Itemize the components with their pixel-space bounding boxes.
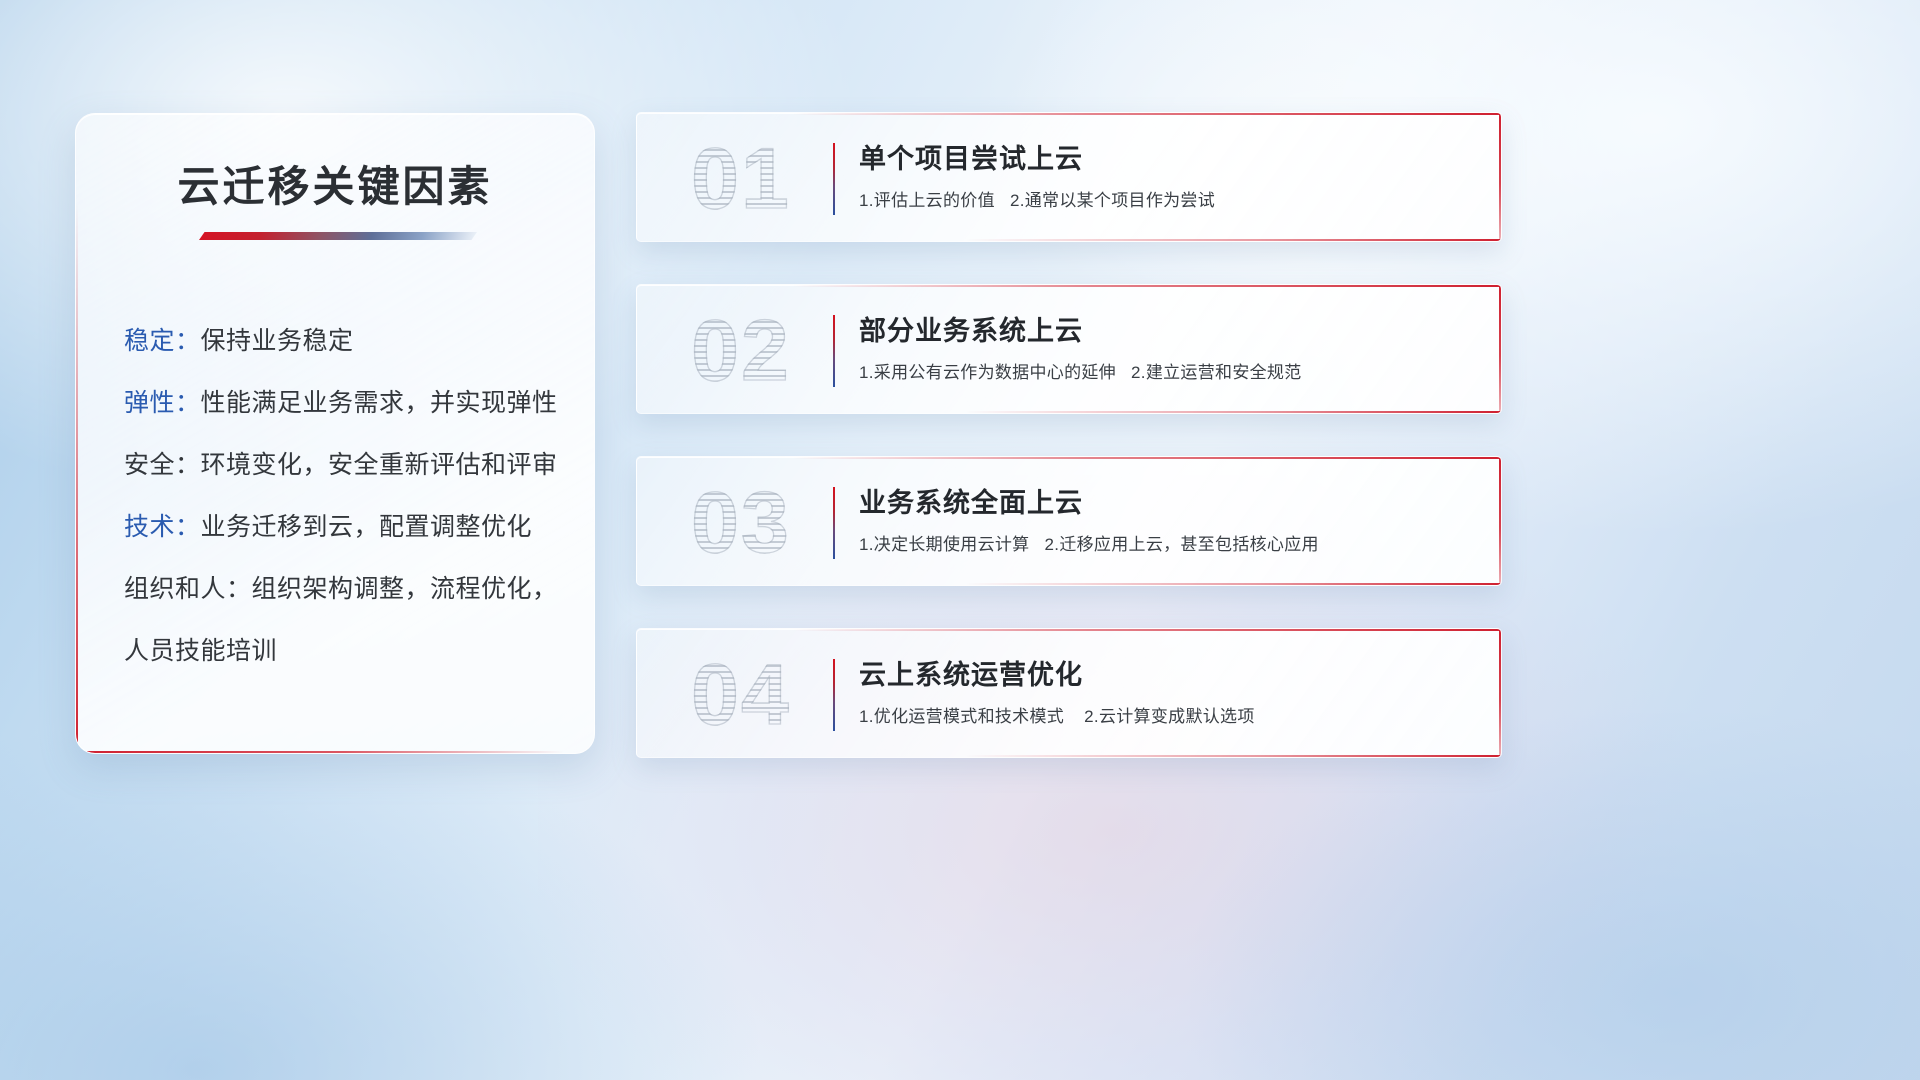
key-factor-label: 组织和人： bbox=[124, 575, 252, 603]
card-accent-bottom-border bbox=[965, 239, 1501, 241]
key-factor-label: 安全： bbox=[124, 451, 201, 479]
card-accent-bottom-border bbox=[965, 411, 1501, 413]
panel-title-underline bbox=[199, 232, 477, 240]
card-title: 云上系统运营优化 bbox=[859, 656, 1461, 694]
card-accent-bottom-border bbox=[965, 755, 1501, 757]
card-title: 单个项目尝试上云 bbox=[859, 140, 1461, 178]
key-factor-text: 组织架构调整，流程优化， bbox=[252, 575, 558, 603]
key-factor-text: 性能满足业务需求，并实现弹性 bbox=[201, 389, 558, 417]
key-factor-text: 人员技能培训 bbox=[124, 637, 277, 665]
card-title: 部分业务系统上云 bbox=[859, 312, 1461, 350]
key-factor-line: 安全：环境变化，安全重新评估和评审 bbox=[124, 434, 564, 496]
panel-accent-bottom-border bbox=[76, 751, 563, 753]
card-text-block: 云上系统运营优化1.优化运营模式和技术模式 2.云计算变成默认选项 bbox=[859, 656, 1461, 729]
migration-stage-card[interactable]: 04云上系统运营优化1.优化运营模式和技术模式 2.云计算变成默认选项 bbox=[636, 628, 1502, 758]
card-text-block: 单个项目尝试上云1.评估上云的价值 2.通常以某个项目作为尝试 bbox=[859, 140, 1461, 213]
key-factor-line: 弹性：性能满足业务需求，并实现弹性 bbox=[124, 372, 564, 434]
key-factor-line: 人员技能培训 bbox=[124, 620, 564, 682]
card-title: 业务系统全面上云 bbox=[859, 484, 1461, 522]
card-accent-right-border bbox=[1499, 113, 1501, 241]
key-factor-text: 业务迁移到云，配置调整优化 bbox=[201, 513, 533, 541]
key-factor-label: 弹性： bbox=[124, 389, 201, 417]
card-subtitle: 1.优化运营模式和技术模式 2.云计算变成默认选项 bbox=[859, 705, 1461, 729]
card-text-block: 业务系统全面上云1.决定长期使用云计算 2.迁移应用上云，甚至包括核心应用 bbox=[859, 484, 1461, 557]
card-accent-top-border bbox=[793, 629, 1501, 631]
migration-stage-card[interactable]: 03业务系统全面上云1.决定长期使用云计算 2.迁移应用上云，甚至包括核心应用 bbox=[636, 456, 1502, 586]
card-step-number: 02 bbox=[661, 297, 821, 405]
card-accent-top-border bbox=[793, 113, 1501, 115]
card-divider-bar bbox=[833, 143, 835, 215]
card-accent-right-border bbox=[1499, 285, 1501, 413]
key-factor-text: 环境变化，安全重新评估和评审 bbox=[201, 451, 558, 479]
key-factor-label: 技术： bbox=[124, 513, 201, 541]
key-factor-label: 稳定： bbox=[124, 327, 201, 355]
key-factor-line: 稳定：保持业务稳定 bbox=[124, 310, 564, 372]
migration-stage-card[interactable]: 01单个项目尝试上云1.评估上云的价值 2.通常以某个项目作为尝试 bbox=[636, 112, 1502, 242]
key-factors-panel: 云迁移关键因素 稳定：保持业务稳定弹性：性能满足业务需求，并实现弹性安全：环境变… bbox=[75, 113, 595, 754]
card-divider-bar bbox=[833, 659, 835, 731]
card-step-number: 03 bbox=[661, 469, 821, 577]
card-accent-right-border bbox=[1499, 629, 1501, 757]
key-factor-text: 保持业务稳定 bbox=[201, 327, 354, 355]
panel-accent-left-border bbox=[76, 203, 78, 753]
key-factor-line: 技术：业务迁移到云，配置调整优化 bbox=[124, 496, 564, 558]
card-subtitle: 1.评估上云的价值 2.通常以某个项目作为尝试 bbox=[859, 189, 1461, 213]
card-divider-bar bbox=[833, 487, 835, 559]
card-step-number: 01 bbox=[661, 125, 821, 233]
card-text-block: 部分业务系统上云1.采用公有云作为数据中心的延伸 2.建立运营和安全规范 bbox=[859, 312, 1461, 385]
key-factors-list: 稳定：保持业务稳定弹性：性能满足业务需求，并实现弹性安全：环境变化，安全重新评估… bbox=[124, 310, 564, 682]
card-subtitle: 1.决定长期使用云计算 2.迁移应用上云，甚至包括核心应用 bbox=[859, 533, 1461, 557]
card-accent-top-border bbox=[793, 457, 1501, 459]
card-accent-right-border bbox=[1499, 457, 1501, 585]
card-step-number: 04 bbox=[661, 641, 821, 749]
card-divider-bar bbox=[833, 315, 835, 387]
card-accent-top-border bbox=[793, 285, 1501, 287]
slide-stage: 云迁移关键因素 稳定：保持业务稳定弹性：性能满足业务需求，并实现弹性安全：环境变… bbox=[0, 0, 1920, 1080]
key-factor-line: 组织和人：组织架构调整，流程优化， bbox=[124, 558, 564, 620]
card-accent-bottom-border bbox=[965, 583, 1501, 585]
card-subtitle: 1.采用公有云作为数据中心的延伸 2.建立运营和安全规范 bbox=[859, 361, 1461, 385]
migration-stage-cards: 01单个项目尝试上云1.评估上云的价值 2.通常以某个项目作为尝试02部分业务系… bbox=[636, 112, 1502, 800]
panel-title: 云迁移关键因素 bbox=[76, 153, 594, 214]
migration-stage-card[interactable]: 02部分业务系统上云1.采用公有云作为数据中心的延伸 2.建立运营和安全规范 bbox=[636, 284, 1502, 414]
